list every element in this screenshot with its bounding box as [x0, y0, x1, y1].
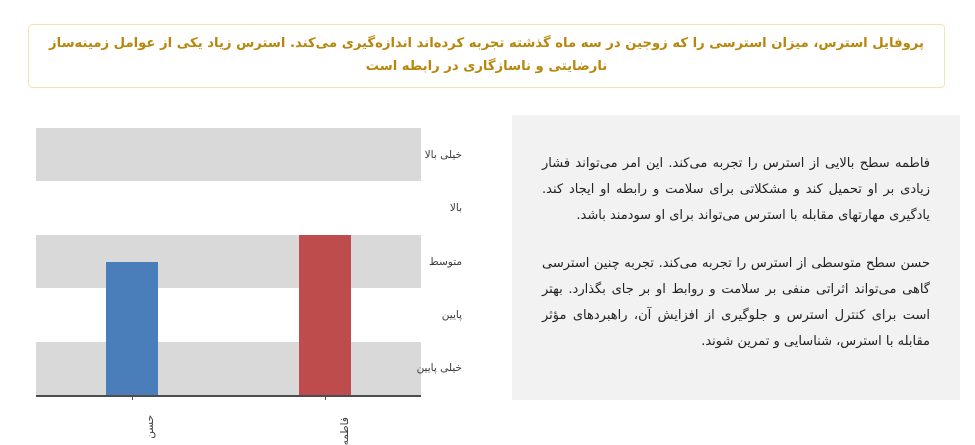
chart-band-very-low: [36, 342, 421, 395]
narrative-paragraph-hasan: حسن سطح متوسطی از استرس را تجربه می‌کند.…: [542, 251, 930, 355]
y-axis-label-very-high: خیلی بالا: [392, 149, 462, 161]
chart-x-axis-line: [36, 395, 421, 397]
chart-plot-area: [36, 128, 421, 395]
x-axis-tick-fatemeh: [325, 395, 326, 400]
x-axis-tick-hasan: [132, 395, 133, 400]
header-callout-text: پروفایل استرس، میزان استرسی را که زوجین …: [47, 33, 926, 78]
narrative-panel: فاطمه سطح بالایی از استرس را تجربه می‌کن…: [512, 115, 960, 400]
bar-fatemeh[interactable]: [299, 235, 351, 395]
y-axis-label-very-low: خیلی پایین: [392, 362, 462, 374]
bar-hasan[interactable]: [106, 262, 158, 396]
y-axis-label-medium: متوسط: [392, 256, 462, 268]
y-axis-label-high: بالا: [392, 202, 462, 214]
narrative-paragraph-fatemeh: فاطمه سطح بالایی از استرس را تجربه می‌کن…: [542, 151, 930, 229]
chart-band-very-high: [36, 128, 421, 181]
y-axis-label-low: پایین: [392, 309, 462, 321]
x-axis-label-fatemeh: فاطمه: [339, 417, 351, 445]
chart-band-medium: [36, 235, 421, 288]
header-callout-box: پروفایل استرس، میزان استرسی را که زوجین …: [28, 24, 945, 88]
stress-profile-chart: خیلی بالا بالا متوسط پایین خیلی پایین حس…: [0, 110, 500, 427]
